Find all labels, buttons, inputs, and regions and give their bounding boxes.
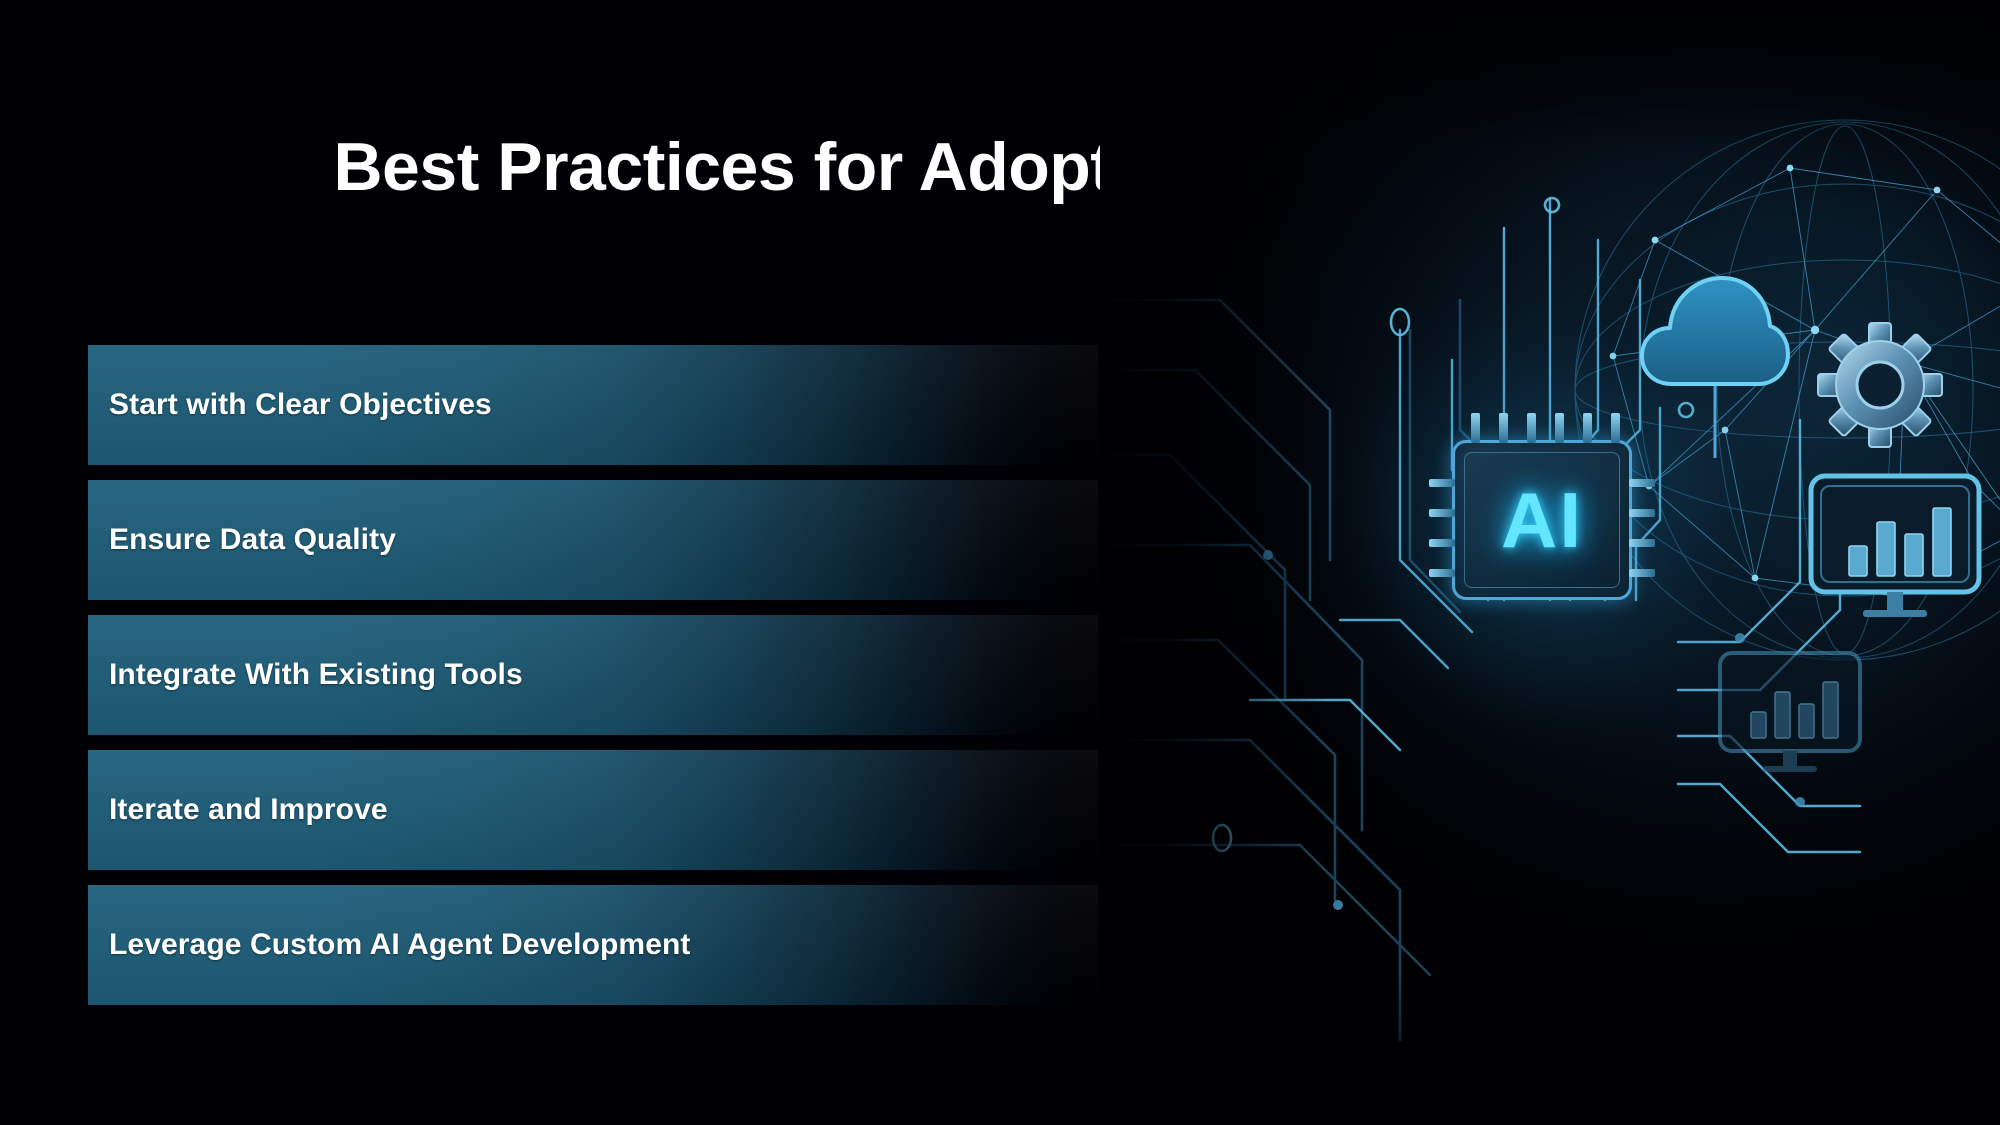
monitor-bar-chart-secondary-icon — [1715, 648, 1865, 776]
list-item[interactable]: Integrate With Existing Tools — [88, 615, 1098, 735]
monitor-bar-chart-icon — [1805, 470, 1985, 620]
list-item-label: Leverage Custom AI Agent Development — [109, 928, 691, 962]
ai-processor-chip: AI — [1452, 440, 1632, 600]
list-item-label: Iterate and Improve — [109, 793, 388, 827]
chip-label: AI — [1501, 481, 1583, 559]
list-item[interactable]: Leverage Custom AI Agent Development — [88, 885, 1098, 1005]
cloud-icon — [1640, 268, 1790, 458]
gear-icon — [1815, 320, 1945, 450]
best-practices-list: Start with Clear Objectives Ensure Data … — [88, 345, 1098, 1020]
list-item-label: Integrate With Existing Tools — [109, 658, 523, 692]
list-item-label: Start with Clear Objectives — [109, 388, 492, 422]
ai-illustration: AI — [1100, 0, 2000, 1125]
list-item-label: Ensure Data Quality — [109, 523, 396, 557]
list-item[interactable]: Start with Clear Objectives — [88, 345, 1098, 465]
list-item[interactable]: Ensure Data Quality — [88, 480, 1098, 600]
chip-face: AI — [1464, 452, 1620, 588]
list-item[interactable]: Iterate and Improve — [88, 750, 1098, 870]
infographic-canvas: Best Practices for Adopting AIOps Start … — [0, 0, 2000, 1125]
